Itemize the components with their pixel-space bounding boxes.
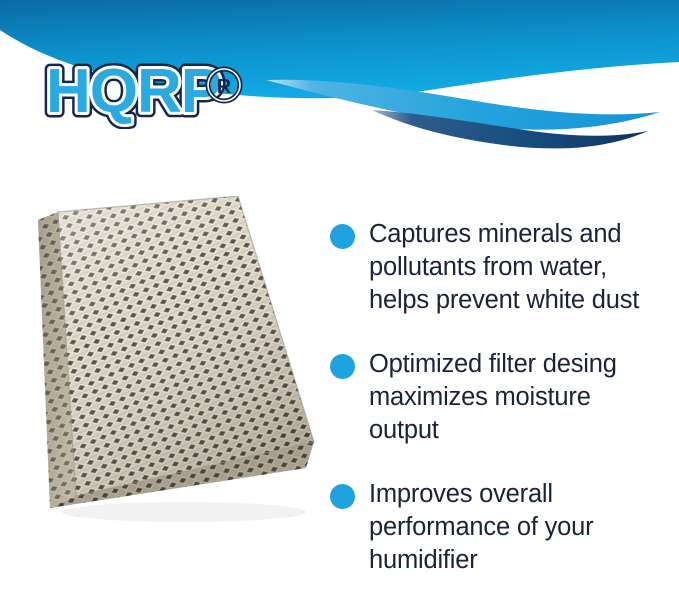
feature-item-captures-minerals: Captures minerals and pollutants from wa… [330, 218, 670, 317]
feature-text: Improves overall performance of your hum… [369, 478, 670, 577]
product-feature-card: HQRP HQRP HQRP R [0, 0, 679, 593]
bullet-point-icon [330, 354, 355, 379]
brand-logo: HQRP HQRP HQRP R [44, 57, 259, 129]
product-image-humidifier-filter [14, 196, 334, 546]
logo-wordmark: HQRP HQRP HQRP [46, 57, 221, 126]
feature-list: Captures minerals and pollutants from wa… [330, 218, 670, 593]
svg-text:R: R [217, 76, 232, 98]
bullet-point-icon [330, 484, 355, 509]
feature-item-optimized-design: Optimized filter desing maximizes moistu… [330, 348, 670, 447]
product-front-face [58, 196, 314, 496]
feature-item-improves-performance: Improves overall performance of your hum… [330, 478, 670, 577]
svg-text:HQRP: HQRP [46, 57, 221, 126]
feature-text: Optimized filter desing maximizes moistu… [369, 348, 670, 447]
feature-text: Captures minerals and pollutants from wa… [369, 218, 670, 317]
bullet-point-icon [330, 224, 355, 249]
product-shadow [62, 502, 306, 522]
